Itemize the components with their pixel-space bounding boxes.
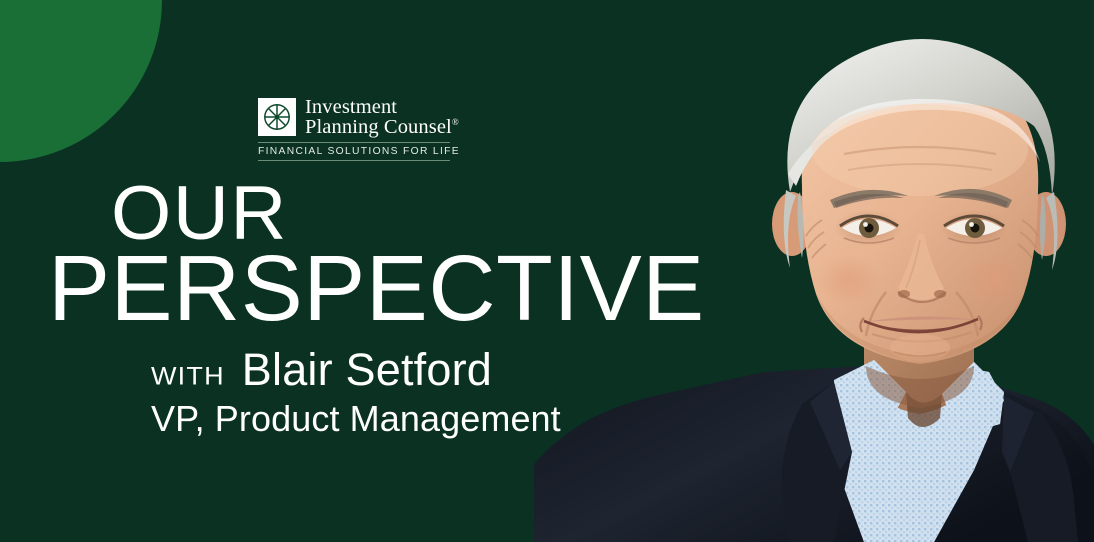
byline-speaker-title: VP, Product Management [151,398,561,440]
byline-with-label: WITH [151,362,225,391]
wheel-compass-icon [258,98,296,136]
logo-line-2: Planning Counsel [305,116,452,138]
headline-line-2: PERSPECTIVE [48,242,705,335]
byline-block: WITH Blair Setford [151,344,492,396]
our-perspective-banner: Investment Planning Counsel® FINANCIAL S… [0,0,1094,542]
brand-logo: Investment Planning Counsel® FINANCIAL S… [258,97,458,161]
byline-speaker-name: Blair Setford [242,344,492,396]
registered-trademark-symbol: ® [452,117,459,127]
logo-tagline: FINANCIAL SOLUTIONS FOR LIFE [258,146,450,157]
logo-tagline-rule: FINANCIAL SOLUTIONS FOR LIFE [258,142,450,161]
logo-line-1: Investment [305,97,459,117]
